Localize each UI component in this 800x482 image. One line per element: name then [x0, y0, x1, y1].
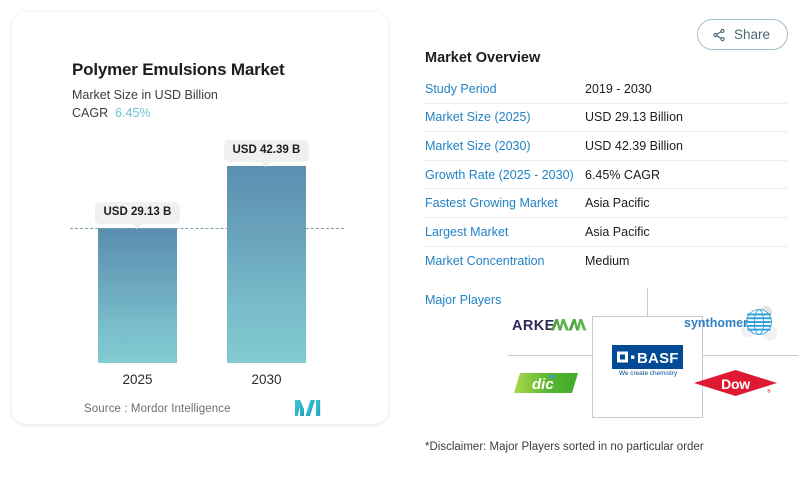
row-value: USD 42.39 Billion [585, 139, 683, 153]
row-value: Asia Pacific [585, 225, 650, 239]
mordor-intelligence-logo [295, 398, 321, 416]
table-row: Market Size (2025) USD 29.13 Billion [425, 104, 787, 133]
grid-divider-horizontal-left [508, 355, 592, 356]
svg-text:®: ® [767, 388, 771, 395]
bar-value-label-2025: USD 29.13 B [95, 202, 181, 224]
svg-text:Dow: Dow [721, 376, 750, 392]
row-label: Market Size (2025) [425, 110, 585, 124]
row-label: Market Concentration [425, 254, 585, 268]
svg-text:synthomer: synthomer [684, 316, 748, 330]
table-row: Fastest Growing Market Asia Pacific [425, 189, 787, 218]
market-overview-panel: Share Market Overview Study Period 2019 … [412, 0, 800, 482]
x-axis-tick-2025: 2025 [98, 372, 177, 387]
table-row: Market Size (2030) USD 42.39 Billion [425, 132, 787, 161]
svg-text:dic: dic [532, 376, 554, 393]
row-value: USD 29.13 Billion [585, 110, 683, 124]
svg-text:ARKE: ARKE [512, 318, 555, 334]
x-axis-tick-2030: 2030 [227, 372, 306, 387]
source-attribution: Source : Mordor Intelligence [84, 403, 231, 415]
player-logo-basf: BASF We create chemistry [600, 340, 695, 382]
table-row: Largest Market Asia Pacific [425, 218, 787, 247]
svg-text:We create chemistry: We create chemistry [619, 370, 678, 377]
player-logo-synthomer: synthomer [680, 302, 790, 346]
share-button[interactable]: Share [697, 19, 788, 50]
row-value: 6.45% CAGR [585, 168, 660, 182]
major-players-grid: ARKE [508, 288, 798, 418]
overview-title: Market Overview [425, 50, 540, 66]
table-row: Study Period 2019 - 2030 [425, 75, 787, 104]
chart-card: Polymer Emulsions Market Market Size in … [12, 12, 388, 424]
row-label: Largest Market [425, 225, 585, 239]
bar-2030[interactable] [227, 166, 306, 363]
share-button-label: Share [734, 27, 770, 42]
row-label: Market Size (2030) [425, 139, 585, 153]
reference-dashed-line [70, 228, 344, 229]
disclaimer-text: *Disclaimer: Major Players sorted in no … [425, 441, 704, 453]
table-row: Market Concentration Medium [425, 247, 787, 276]
row-value: Asia Pacific [585, 196, 650, 210]
dow-logo-icon: Dow ® [688, 368, 783, 398]
row-label: Study Period [425, 82, 585, 96]
bar-chart-plot: USD 29.13 B USD 42.39 B 2025 2030 [12, 12, 388, 424]
major-players-label: Major Players [425, 293, 501, 307]
row-value: 2019 - 2030 [585, 82, 652, 96]
bar-2025[interactable] [98, 228, 177, 363]
row-value: Medium [585, 254, 629, 268]
player-logo-dic: dic [504, 366, 590, 400]
grid-divider-horizontal-right [703, 355, 798, 356]
row-label: Fastest Growing Market [425, 196, 585, 210]
share-icon [712, 28, 726, 42]
bar-value-label-2030: USD 42.39 B [224, 140, 310, 162]
row-label: Growth Rate (2025 - 2030) [425, 168, 585, 182]
arkema-logo-icon: ARKE [504, 314, 596, 336]
player-logo-arkema: ARKE [504, 308, 596, 342]
dic-logo-icon: dic [504, 368, 590, 398]
svg-text:BASF: BASF [637, 350, 679, 367]
table-row: Growth Rate (2025 - 2030) 6.45% CAGR [425, 161, 787, 190]
synthomer-logo-icon: synthomer [680, 302, 790, 346]
player-logo-dow: Dow ® [688, 366, 783, 400]
basf-logo-icon: BASF We create chemistry [600, 340, 695, 382]
market-report-infographic: Polymer Emulsions Market Market Size in … [0, 0, 800, 482]
overview-table: Study Period 2019 - 2030 Market Size (20… [425, 75, 787, 275]
